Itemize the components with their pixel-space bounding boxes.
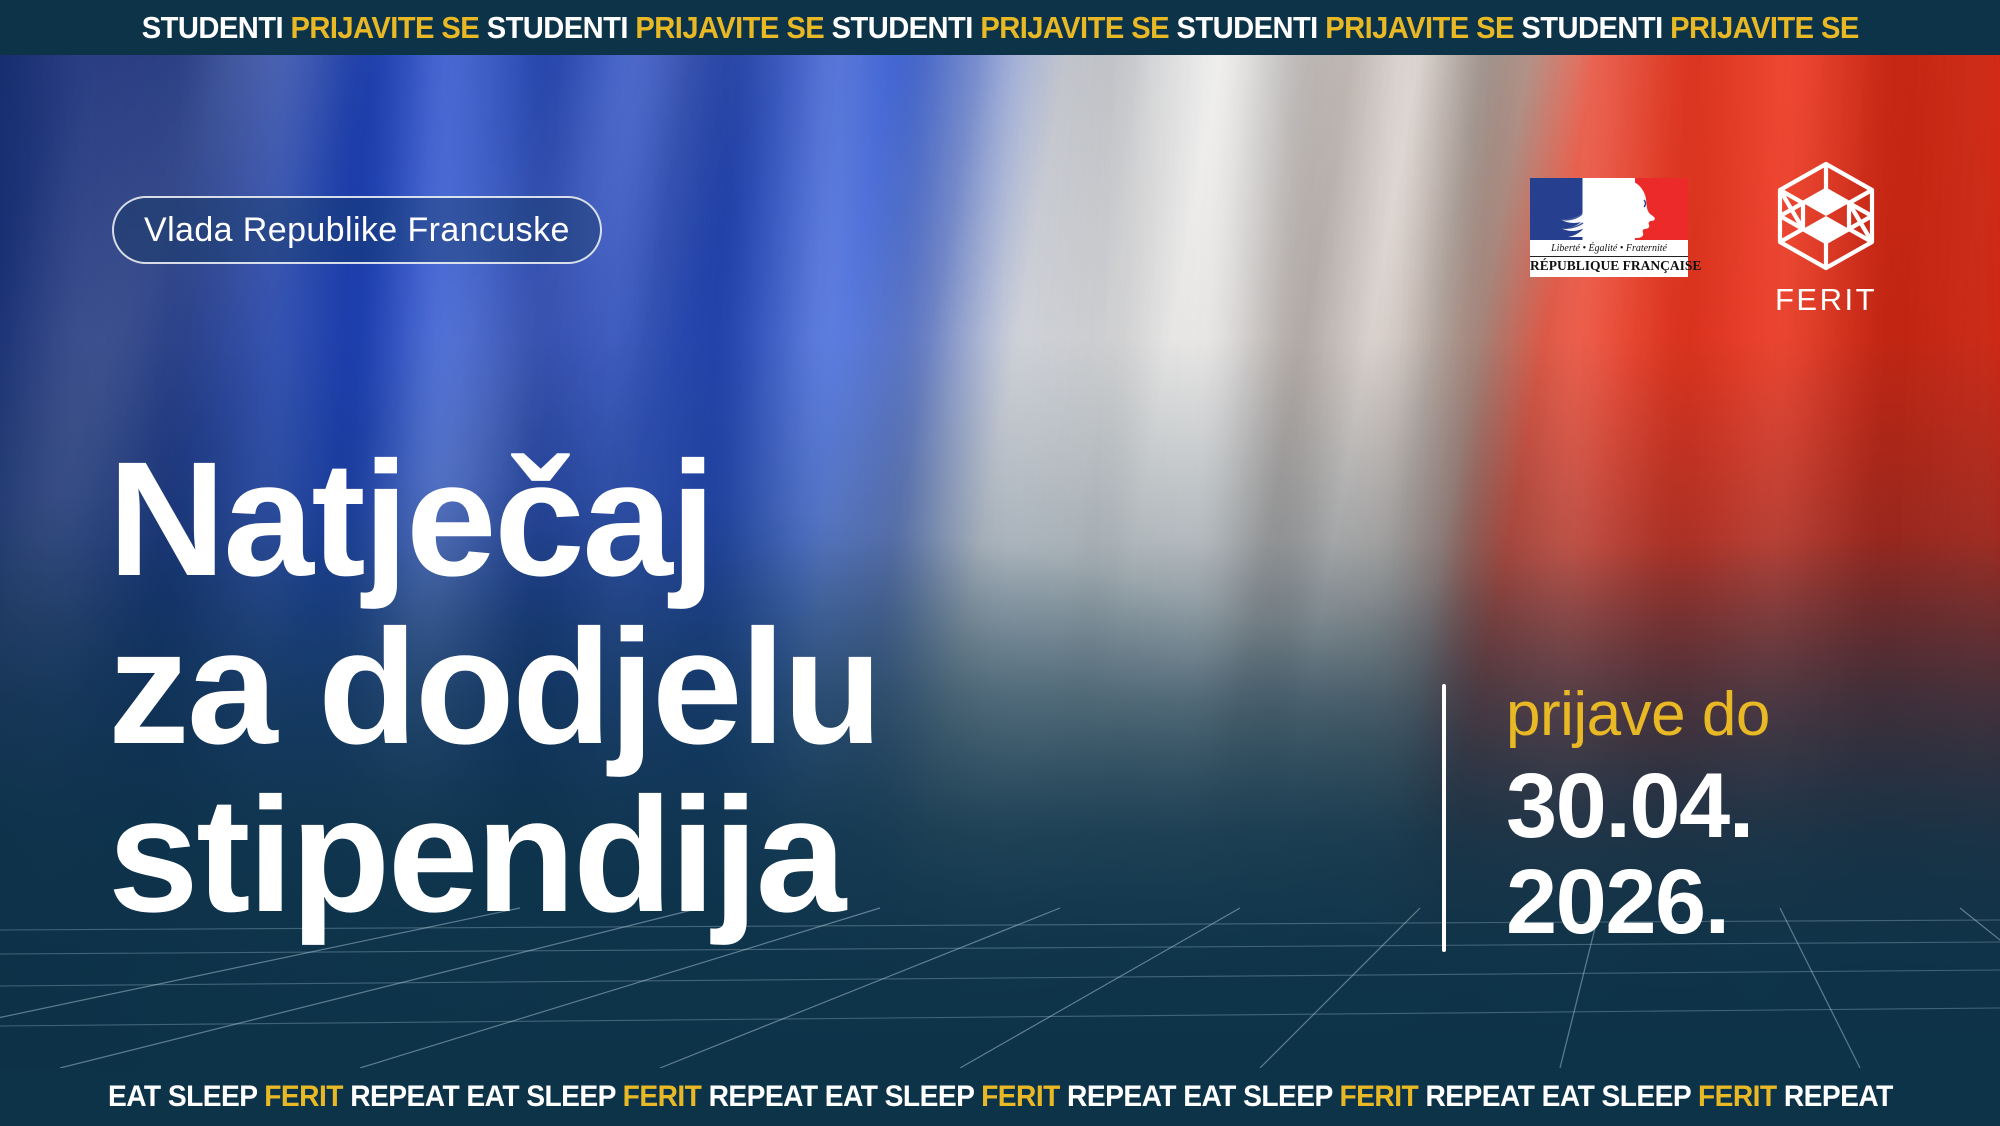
ticker-segment: PRIJAVITE SE <box>980 10 1169 45</box>
government-badge: Vlada Republike Francuske <box>112 196 602 264</box>
ticker-segment: REPEAT EAT SLEEP <box>1425 1080 1690 1113</box>
bottom-ticker-text: EAT SLEEP FERIT REPEAT EAT SLEEP FERIT R… <box>108 1082 1893 1112</box>
ticker-segment: FERIT <box>622 1080 701 1113</box>
ticker-segment: PRIJAVITE SE <box>1325 10 1514 45</box>
scholarship-announcement-poster: STUDENTI PRIJAVITE SE STUDENTI PRIJAVITE… <box>0 0 2000 1126</box>
ticker-segment: REPEAT EAT SLEEP <box>1067 1080 1332 1113</box>
ticker-segment: STUDENTI <box>142 10 283 45</box>
headline-line-2: za dodjelu <box>108 603 880 771</box>
ticker-segment: REPEAT EAT SLEEP <box>708 1080 973 1113</box>
republique-francaise-logo: Liberté • Égalité • Fraternité RÉPUBLIQU… <box>1530 178 1688 277</box>
deadline-label: prijave do <box>1506 684 1770 746</box>
ticker-segment: PRIJAVITE SE <box>1670 10 1859 45</box>
ticker-segment: STUDENTI <box>1176 10 1317 45</box>
ferit-hexagon-icon <box>1772 160 1880 278</box>
government-badge-label: Vlada Republike Francuske <box>144 211 570 250</box>
ticker-segment: PRIJAVITE SE <box>635 10 824 45</box>
republique-motto: Liberté • Égalité • Fraternité <box>1530 240 1688 256</box>
page-title: Natječaj za dodjelu stipendija <box>108 435 880 939</box>
ticker-segment: EAT SLEEP <box>108 1080 257 1113</box>
ticker-segment: FERIT <box>1339 1080 1418 1113</box>
ticker-segment: FERIT <box>1698 1080 1777 1113</box>
bottom-ticker-bar: EAT SLEEP FERIT REPEAT EAT SLEEP FERIT R… <box>0 1068 2000 1126</box>
ticker-segment: STUDENTI <box>831 10 972 45</box>
top-ticker-bar: STUDENTI PRIJAVITE SE STUDENTI PRIJAVITE… <box>0 0 2000 55</box>
deadline-text-group: prijave do 30.04. 2026. <box>1506 684 1770 950</box>
ferit-wordmark: FERIT <box>1762 284 1890 315</box>
deadline-divider-rule <box>1442 684 1446 952</box>
deadline-date-day-month: 30.04. <box>1506 760 1770 854</box>
ticker-segment: REPEAT EAT SLEEP <box>350 1080 615 1113</box>
ticker-segment: FERIT <box>981 1080 1060 1113</box>
ticker-segment: STUDENTI <box>1521 10 1662 45</box>
deadline-block: prijave do 30.04. 2026. <box>1442 684 1770 952</box>
deadline-date-year: 2026. <box>1506 856 1770 950</box>
ticker-segment: FERIT <box>264 1080 343 1113</box>
ticker-segment: REPEAT <box>1784 1080 1893 1113</box>
ticker-segment: PRIJAVITE SE <box>290 10 479 45</box>
headline-line-3: stipendija <box>108 771 880 939</box>
ticker-segment: STUDENTI <box>486 10 627 45</box>
headline-line-1: Natječaj <box>108 435 880 603</box>
republique-name: RÉPUBLIQUE FRANÇAISE <box>1530 256 1688 277</box>
top-ticker-text: STUDENTI PRIJAVITE SE STUDENTI PRIJAVITE… <box>142 12 1859 43</box>
marianne-profile-icon <box>1530 178 1688 240</box>
ferit-logo: FERIT <box>1762 160 1890 315</box>
